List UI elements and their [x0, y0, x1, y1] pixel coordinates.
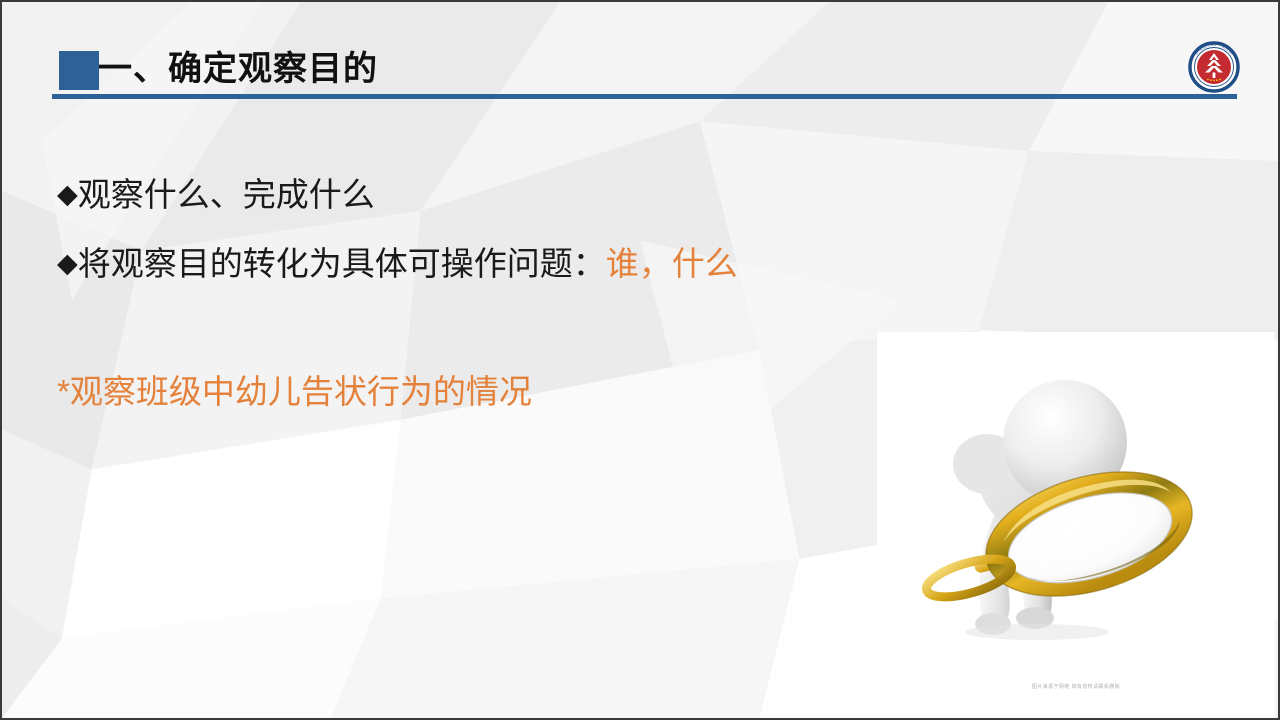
- page-title: 一、确定观察目的: [98, 46, 378, 92]
- university-logo-icon: SHANDONG YINGCAI: [1188, 41, 1240, 93]
- title-bullet-square: [59, 51, 99, 90]
- bullet-list: ◆观察什么、完成什么 ◆将观察目的转化为具体可操作问题：谁，什么: [57, 160, 877, 298]
- image-watermark: 图片来源于网络 如有侵权请联系删除: [877, 683, 1275, 690]
- bullet-item-2-highlight: 谁，什么: [606, 245, 738, 282]
- bullet-item-1-text: 观察什么、完成什么: [78, 176, 375, 213]
- presentation-slide: 一、确定观察目的: [0, 0, 1280, 720]
- diamond-bullet-icon: ◆: [57, 248, 78, 278]
- bullet-item-2: ◆将观察目的转化为具体可操作问题：谁，什么: [57, 229, 877, 298]
- university-logo: SHANDONG YINGCAI: [1188, 41, 1240, 93]
- bullet-item-2-text: 将观察目的转化为具体可操作问题：: [78, 245, 606, 282]
- bullet-item-1: ◆观察什么、完成什么: [57, 160, 877, 229]
- slide-title-block: 一、确定观察目的: [2, 2, 1280, 112]
- illustration-panel: 图片来源于网络 如有侵权请联系删除: [877, 332, 1275, 720]
- example-note: *观察班级中幼儿告状行为的情况: [57, 368, 532, 416]
- magnifier-figure-illustration-icon: [877, 332, 1275, 720]
- title-underline-rule: [52, 94, 1237, 99]
- diamond-bullet-icon: ◆: [57, 179, 78, 209]
